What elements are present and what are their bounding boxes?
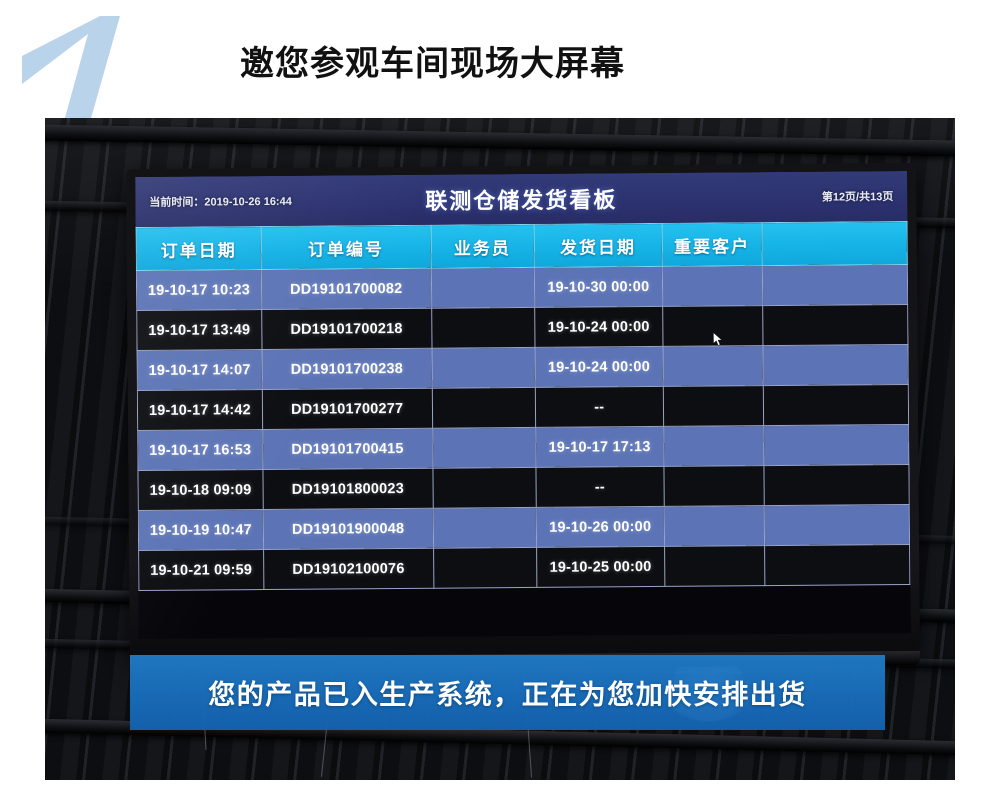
cell-order-no: DD19101800023 [263, 468, 433, 509]
table-row: 19-10-18 09:09 DD19101800023 -- [138, 464, 909, 510]
cell-salesman [433, 507, 537, 548]
cell-extra [762, 264, 907, 305]
cell-key-customer [662, 266, 763, 307]
shipment-board-table: 订单日期 订单编号 业务员 发货日期 重要客户 19-10-17 10:23 D… [136, 221, 911, 591]
table-row: 19-10-19 10:47 DD19101900048 19-10-26 00… [138, 504, 909, 550]
column-header-order-date: 订单日期 [136, 227, 261, 271]
cell-order-date: 19-10-17 14:42 [137, 390, 262, 431]
column-header-key-customer: 重要客户 [662, 223, 763, 267]
table-row: 19-10-21 09:59 DD19102100076 19-10-25 00… [139, 544, 910, 590]
page-root: 邀您参观车间现场大屏幕 当前时间：2019-10-26 16:44 联测仓储发货… [0, 0, 1000, 798]
cell-ship-date: 19-10-24 00:00 [535, 346, 663, 387]
cell-order-date: 19-10-17 10:23 [136, 270, 261, 311]
cell-salesman [432, 387, 536, 428]
cell-key-customer [663, 426, 764, 467]
cell-order-date: 19-10-17 13:49 [137, 310, 262, 351]
cell-salesman [432, 427, 536, 468]
table-header-row: 订单日期 订单编号 业务员 发货日期 重要客户 [136, 221, 907, 270]
cell-salesman [431, 267, 535, 308]
cell-order-no: DD19102100076 [263, 548, 433, 589]
cell-key-customer [664, 466, 765, 507]
cell-order-date: 19-10-18 09:09 [138, 470, 263, 511]
cell-ship-date: 19-10-17 17:13 [535, 426, 663, 467]
cell-salesman [431, 307, 535, 348]
cell-order-date: 19-10-19 10:47 [138, 510, 263, 551]
column-header-order-no: 订单编号 [261, 225, 431, 269]
cell-key-customer [662, 306, 763, 347]
table-row: 19-10-17 14:07 DD19101700238 19-10-24 00… [137, 344, 908, 390]
cell-order-date: 19-10-17 16:53 [138, 430, 263, 471]
table-row: 19-10-17 14:42 DD19101700277 -- [137, 384, 908, 430]
table-row: 19-10-17 13:49 DD19101700218 19-10-24 00… [137, 304, 908, 350]
promo-banner: 您的产品已入生产系统，正在为您加快安排出货 [130, 655, 885, 730]
cell-ship-date: 19-10-30 00:00 [534, 266, 662, 307]
cell-order-date: 19-10-21 09:59 [139, 550, 264, 591]
dashboard-title: 联测仓储发货看板 [135, 180, 907, 218]
cell-key-customer [663, 386, 764, 427]
column-header-extra [762, 221, 907, 265]
cell-order-no: DD19101700415 [263, 428, 433, 469]
factory-photo: 当前时间：2019-10-26 16:44 联测仓储发货看板 第12页/共13页 [45, 118, 955, 780]
cell-extra [764, 424, 909, 465]
column-header-salesman: 业务员 [431, 224, 535, 268]
cell-ship-date: -- [536, 466, 664, 507]
cell-order-no: DD19101700218 [262, 308, 432, 349]
cell-extra [764, 464, 909, 505]
cell-order-no: DD19101900048 [263, 508, 433, 549]
column-header-ship-date: 发货日期 [534, 223, 662, 267]
promo-banner-text: 您的产品已入生产系统，正在为您加快安排出货 [208, 673, 807, 712]
cell-order-date: 19-10-17 14:07 [137, 350, 262, 391]
table-body: 19-10-17 10:23 DD19101700082 19-10-30 00… [136, 264, 909, 590]
cell-extra [765, 544, 910, 585]
cell-extra [763, 384, 908, 425]
cell-order-no: DD19101700082 [261, 268, 431, 309]
cell-ship-date: 19-10-26 00:00 [536, 506, 664, 547]
dashboard-header: 当前时间：2019-10-26 16:44 联测仓储发货看板 第12页/共13页 [135, 171, 907, 227]
wall-mounted-tv: 当前时间：2019-10-26 16:44 联测仓储发货看板 第12页/共13页 [126, 163, 920, 659]
cell-ship-date: 19-10-24 00:00 [534, 306, 662, 347]
cell-salesman [432, 467, 536, 508]
cell-key-customer [663, 346, 764, 387]
cell-ship-date: 19-10-25 00:00 [536, 546, 664, 587]
cell-extra [763, 344, 908, 385]
cell-salesman [433, 547, 537, 588]
cell-key-customer [664, 546, 765, 587]
cell-ship-date: -- [535, 386, 663, 427]
cell-salesman [432, 347, 536, 388]
cell-order-no: DD19101700238 [262, 348, 432, 389]
table-row: 19-10-17 10:23 DD19101700082 19-10-30 00… [136, 264, 907, 310]
cell-extra [764, 504, 909, 545]
table-row: 19-10-17 16:53 DD19101700415 19-10-17 17… [138, 424, 909, 470]
cell-extra [763, 304, 908, 345]
tv-screen: 当前时间：2019-10-26 16:44 联测仓储发货看板 第12页/共13页 [135, 171, 911, 639]
cell-order-no: DD19101700277 [262, 388, 432, 429]
page-title: 邀您参观车间现场大屏幕 [240, 36, 625, 85]
cell-key-customer [664, 506, 765, 547]
